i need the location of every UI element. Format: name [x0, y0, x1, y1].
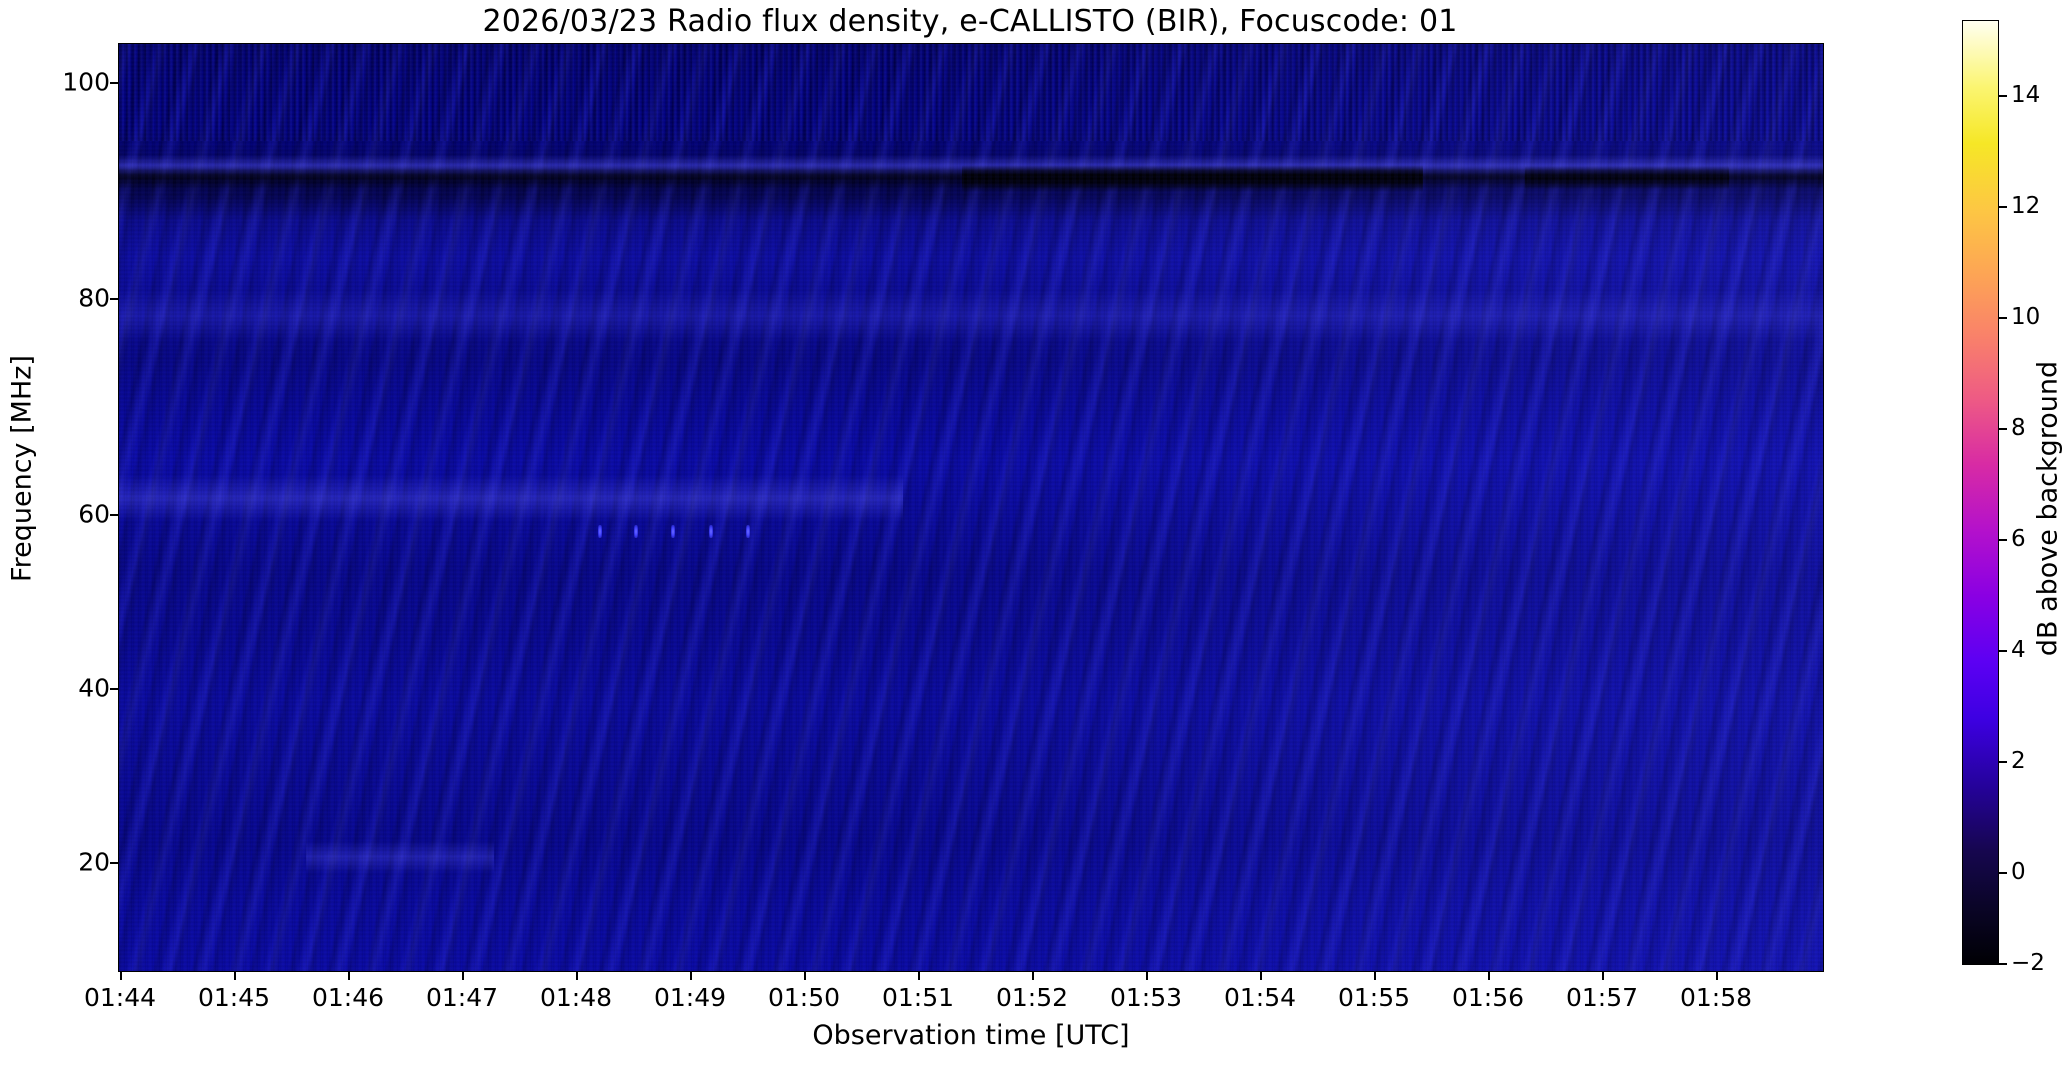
colorbar-tick-mark: [1999, 650, 2007, 652]
x-axis-tick-mark: [234, 972, 236, 980]
colorbar-tick-label: 0: [2011, 859, 2026, 885]
x-axis-tick-mark: [1146, 972, 1148, 980]
x-axis-tick-mark: [1032, 972, 1034, 980]
x-axis-tick-mark: [1716, 972, 1718, 980]
x-axis-tick-mark: [462, 972, 464, 980]
y-axis-tick-mark: [110, 298, 118, 300]
x-axis-tick-label: 01:49: [654, 983, 726, 1012]
colorbar-tick-mark: [1999, 317, 2007, 319]
colorbar-tick-label: 6: [2011, 526, 2026, 552]
y-axis-tick-mark: [110, 688, 118, 690]
x-axis-tick-label: 01:47: [426, 983, 498, 1012]
x-axis-tick-label: 01:51: [882, 983, 954, 1012]
y-axis-tick-label: 60: [78, 500, 110, 529]
x-axis-tick-mark: [120, 972, 122, 980]
x-axis-label: Observation time [UTC]: [118, 1020, 1824, 1051]
x-axis-tick-label: 01:53: [1110, 983, 1182, 1012]
colorbar-tick-mark: [1999, 95, 2007, 97]
x-axis-tick-mark: [1602, 972, 1604, 980]
spectrogram-plot-area[interactable]: [118, 43, 1824, 972]
y-axis-tick-mark: [110, 514, 118, 516]
x-axis-tick-mark: [918, 972, 920, 980]
colorbar-tick-mark: [1999, 963, 2007, 965]
y-axis-tick-mark: [110, 82, 118, 84]
narrowband-spike: [634, 525, 638, 538]
x-axis-tick-label: 01:54: [1224, 983, 1296, 1012]
narrowband-spike: [671, 525, 675, 538]
x-axis-tick-label: 01:57: [1566, 983, 1638, 1012]
x-axis-tick-label: 01:46: [312, 983, 384, 1012]
x-axis-tick-label: 01:44: [84, 983, 156, 1012]
x-axis-tick-mark: [1374, 972, 1376, 980]
x-axis-tick-label: 01:52: [996, 983, 1068, 1012]
colorbar-label: dB above background: [2033, 299, 2064, 719]
colorbar-tick-label: 8: [2011, 415, 2026, 441]
x-axis-tick-label: 01:55: [1338, 983, 1410, 1012]
y-axis-label: Frequency [MHz]: [7, 209, 38, 729]
x-axis-tick-label: 01:45: [198, 983, 270, 1012]
colorbar-tick-label: 2: [2011, 748, 2026, 774]
x-axis-tick-mark: [576, 972, 578, 980]
x-axis-tick-mark: [1488, 972, 1490, 980]
colorbar-tick-mark: [1999, 428, 2007, 430]
narrowband-spike: [746, 525, 750, 538]
x-axis-tick-label: 01:58: [1680, 983, 1752, 1012]
x-axis-tick-label: 01:50: [768, 983, 840, 1012]
y-axis-tick-label: 40: [78, 674, 110, 703]
colorbar-tick-label: 4: [2011, 637, 2026, 663]
colorbar-tick-label: −2: [2011, 950, 2045, 976]
y-axis-tick-label: 20: [78, 848, 110, 877]
x-axis-tick-mark: [690, 972, 692, 980]
colorbar[interactable]: [1962, 20, 1999, 965]
colorbar-gradient: [1963, 21, 1998, 964]
x-axis-tick-label: 01:56: [1452, 983, 1524, 1012]
x-axis-tick-mark: [348, 972, 350, 980]
channel-noise-layer: [119, 44, 1823, 971]
colorbar-tick-mark: [1999, 539, 2007, 541]
x-axis-tick-mark: [804, 972, 806, 980]
colorbar-tick-label: 14: [2011, 82, 2040, 108]
narrowband-spike: [598, 525, 602, 538]
colorbar-tick-mark: [1999, 206, 2007, 208]
narrowband-spike: [709, 525, 713, 538]
y-axis-tick-label: 100: [62, 68, 110, 97]
colorbar-tick-label: 12: [2011, 193, 2040, 219]
spectrogram-figure: 2026/03/23 Radio flux density, e-CALLIST…: [0, 0, 2066, 1067]
y-axis-tick-label: 80: [78, 284, 110, 313]
colorbar-tick-mark: [1999, 761, 2007, 763]
colorbar-tick-mark: [1999, 872, 2007, 874]
y-axis-tick-mark: [110, 862, 118, 864]
page-title: 2026/03/23 Radio flux density, e-CALLIST…: [0, 4, 1940, 39]
x-axis-tick-mark: [1260, 972, 1262, 980]
x-axis-tick-label: 01:48: [540, 983, 612, 1012]
